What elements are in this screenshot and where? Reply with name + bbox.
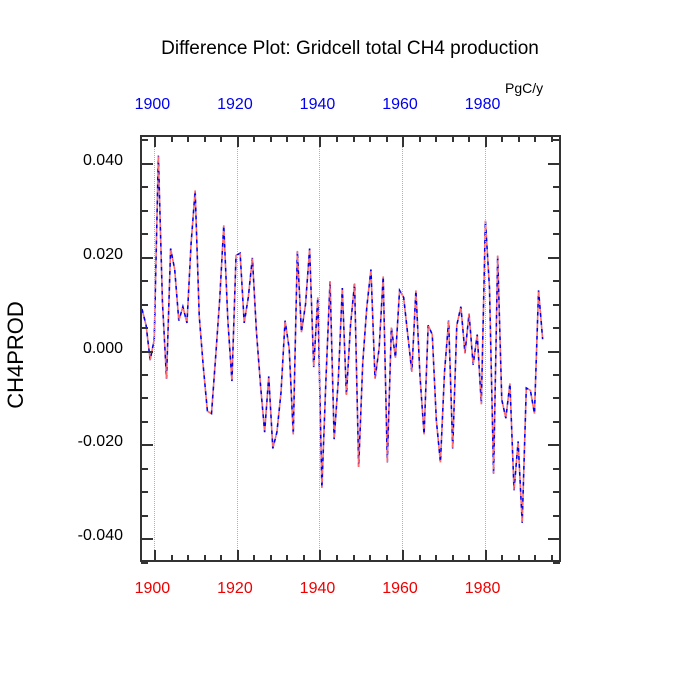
x-axis-bottom-tick-label: 1920: [217, 580, 253, 598]
x-axis-minor-tick: [220, 555, 222, 561]
x-axis-minor-tick: [353, 136, 355, 142]
x-axis-minor-tick: [369, 555, 371, 561]
y-axis-minor-tick: [553, 233, 560, 235]
chart-title: Difference Plot: Gridcell total CH4 prod…: [0, 38, 700, 60]
x-axis-minor-tick: [518, 555, 520, 561]
x-axis-bottom-tick-label: 1960: [382, 580, 418, 598]
x-axis-minor-tick: [253, 555, 255, 561]
unit-label: PgC/y: [505, 80, 543, 96]
y-axis-major-tick: [141, 538, 153, 540]
y-axis-major-tick: [141, 163, 153, 165]
x-axis-minor-tick: [468, 136, 470, 142]
y-axis-minor-tick: [141, 468, 148, 470]
y-axis-major-tick: [141, 257, 153, 259]
y-axis-minor-tick: [141, 280, 148, 282]
x-axis-minor-tick: [353, 555, 355, 561]
x-axis-minor-tick: [220, 136, 222, 142]
x-axis-minor-tick: [187, 136, 189, 142]
y-axis-minor-tick: [553, 304, 560, 306]
chart-canvas: Difference Plot: Gridcell total CH4 prod…: [0, 0, 700, 700]
y-axis-major-tick: [141, 351, 153, 353]
x-axis-bottom-tick-label: 1940: [300, 580, 336, 598]
x-axis-minor-tick: [286, 136, 288, 142]
data-line-series-a: [142, 156, 543, 523]
x-axis-minor-tick: [452, 555, 454, 561]
x-axis-minor-tick: [435, 555, 437, 561]
y-axis-minor-tick: [553, 468, 560, 470]
x-gridline: [319, 137, 320, 560]
y-axis-label-text: CH4PROD: [3, 301, 29, 409]
y-axis-tick-label: 0.040: [35, 152, 123, 170]
x-axis-top-tick-label: 1960: [382, 96, 418, 114]
y-axis-minor-tick: [553, 397, 560, 399]
y-axis-minor-tick: [553, 421, 560, 423]
x-axis-minor-tick: [171, 136, 173, 142]
plot-area: [140, 135, 561, 562]
x-axis-major-tick: [319, 136, 321, 147]
x-axis-minor-tick: [187, 555, 189, 561]
x-axis-top-tick-label: 1940: [300, 96, 336, 114]
x-axis-major-tick: [237, 550, 239, 561]
y-axis-minor-tick: [141, 186, 148, 188]
x-axis-minor-tick: [551, 555, 553, 561]
x-axis-minor-tick: [369, 136, 371, 142]
y-axis-minor-tick: [141, 327, 148, 329]
x-axis-major-tick: [485, 550, 487, 561]
x-axis-minor-tick: [303, 136, 305, 142]
y-axis-minor-tick: [553, 210, 560, 212]
y-axis-minor-tick: [141, 374, 148, 376]
y-axis-minor-tick: [141, 491, 148, 493]
x-axis-minor-tick: [270, 136, 272, 142]
y-axis-minor-tick: [141, 304, 148, 306]
x-axis-major-tick: [402, 136, 404, 147]
x-axis-major-tick: [402, 550, 404, 561]
x-axis-minor-tick: [270, 555, 272, 561]
x-gridline: [402, 137, 403, 560]
x-axis-major-tick: [319, 550, 321, 561]
x-axis-minor-tick: [501, 136, 503, 142]
x-axis-minor-tick: [303, 555, 305, 561]
x-axis-minor-tick: [501, 555, 503, 561]
x-axis-minor-tick: [534, 136, 536, 142]
y-axis-major-tick: [548, 351, 560, 353]
y-axis-minor-tick: [141, 233, 148, 235]
y-axis-major-tick: [548, 163, 560, 165]
y-axis-minor-tick: [553, 491, 560, 493]
y-axis-tick-label: -0.020: [35, 433, 123, 451]
x-axis-minor-tick: [386, 136, 388, 142]
x-axis-minor-tick: [286, 555, 288, 561]
x-axis-minor-tick: [534, 555, 536, 561]
y-axis-minor-tick: [553, 374, 560, 376]
y-axis-tick-label: -0.040: [35, 527, 123, 545]
y-axis-major-tick: [548, 444, 560, 446]
x-axis-minor-tick: [253, 136, 255, 142]
y-axis-tick-label: 0.020: [35, 246, 123, 264]
x-axis-minor-tick: [336, 136, 338, 142]
x-axis-minor-tick: [452, 136, 454, 142]
x-axis-major-tick: [485, 136, 487, 147]
y-axis-minor-tick: [553, 139, 560, 141]
data-series-canvas: [142, 137, 559, 560]
y-axis-minor-tick: [553, 562, 560, 564]
x-axis-minor-tick: [336, 555, 338, 561]
x-axis-major-tick: [154, 550, 156, 561]
y-axis-minor-tick: [553, 327, 560, 329]
x-axis-minor-tick: [204, 136, 206, 142]
x-axis-minor-tick: [171, 555, 173, 561]
y-axis-minor-tick: [141, 421, 148, 423]
y-axis-minor-tick: [553, 515, 560, 517]
y-axis-minor-tick: [553, 186, 560, 188]
y-axis-minor-tick: [141, 515, 148, 517]
y-axis-minor-tick: [553, 280, 560, 282]
x-axis-minor-tick: [419, 136, 421, 142]
x-axis-bottom-tick-label: 1900: [135, 580, 171, 598]
x-axis-minor-tick: [386, 555, 388, 561]
x-axis-minor-tick: [204, 555, 206, 561]
x-axis-major-tick: [237, 136, 239, 147]
x-axis-minor-tick: [518, 136, 520, 142]
y-axis-major-tick: [548, 538, 560, 540]
x-axis-minor-tick: [468, 555, 470, 561]
x-axis-bottom-tick-label: 1980: [465, 580, 501, 598]
x-gridline: [485, 137, 486, 560]
x-axis-minor-tick: [435, 136, 437, 142]
y-axis-major-tick: [141, 444, 153, 446]
y-axis-major-tick: [548, 257, 560, 259]
x-axis-top-tick-label: 1920: [217, 96, 253, 114]
x-axis-top-tick-label: 1900: [135, 96, 171, 114]
y-axis-minor-tick: [141, 562, 148, 564]
y-axis-tick-label: 0.000: [35, 340, 123, 358]
y-axis-minor-tick: [141, 210, 148, 212]
y-axis-minor-tick: [141, 139, 148, 141]
x-axis-top-tick-label: 1980: [465, 96, 501, 114]
x-axis-minor-tick: [419, 555, 421, 561]
x-axis-major-tick: [154, 136, 156, 147]
x-gridline: [237, 137, 238, 560]
y-axis-minor-tick: [141, 397, 148, 399]
x-gridline: [154, 137, 155, 560]
